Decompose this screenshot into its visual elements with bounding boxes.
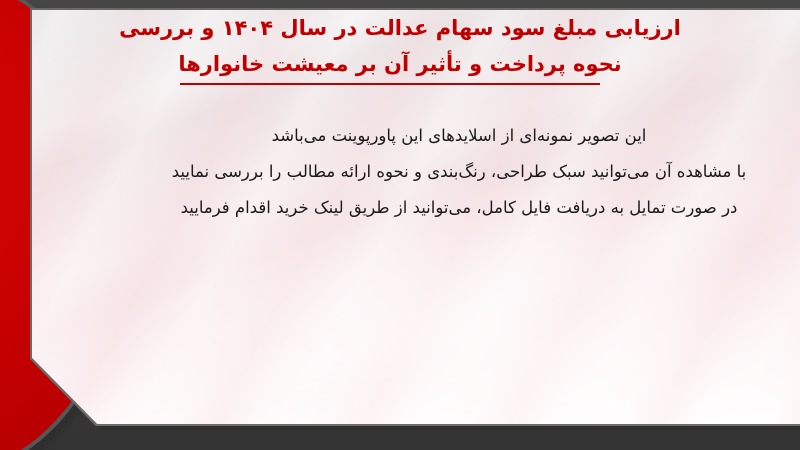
slide-body-line-1: این تصویر نمونه‌ای از اسلایدهای این پاور… xyxy=(118,118,800,154)
slide-title-line-1: ارزیابی مبلغ سود سهام عدالت در سال ۱۴۰۴ … xyxy=(0,10,800,46)
slide-title: ارزیابی مبلغ سود سهام عدالت در سال ۱۴۰۴ … xyxy=(0,10,800,82)
slide-title-line-2: نحوه پرداخت و تأثیر آن بر معیشت خانوارها xyxy=(0,46,800,82)
slide-body-line-3: در صورت تمایل به دریافت فایل کامل، می‌تو… xyxy=(118,190,800,226)
slide-body: این تصویر نمونه‌ای از اسلایدهای این پاور… xyxy=(0,118,800,226)
slide-content: ارزیابی مبلغ سود سهام عدالت در سال ۱۴۰۴ … xyxy=(0,0,800,450)
slide-body-line-2: با مشاهده آن می‌توانید سبک طراحی، رنگ‌بن… xyxy=(118,154,800,190)
title-underline xyxy=(180,83,600,85)
presentation-slide: ارزیابی مبلغ سود سهام عدالت در سال ۱۴۰۴ … xyxy=(0,0,800,450)
